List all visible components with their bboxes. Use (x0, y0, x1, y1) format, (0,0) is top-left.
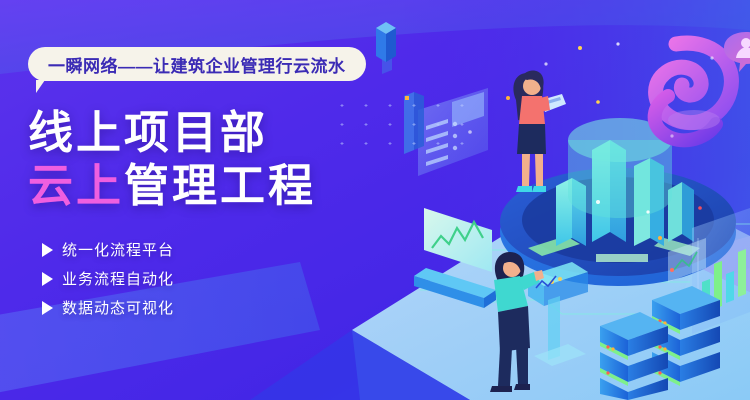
headline-line-1: 线上项目部 (28, 110, 268, 155)
triangle-icon (42, 272, 53, 286)
feature-bullet-1: 统一化流程平台 (42, 239, 174, 260)
tagline-text: 一瞬网络——让建筑企业管理行云流水 (48, 52, 346, 77)
copy-block: 一瞬网络——让建筑企业管理行云流水 线上项目部 云上管理工程 统一化流程平台 业… (0, 0, 430, 400)
tagline-bubble: 一瞬网络——让建筑企业管理行云流水 (28, 47, 366, 81)
feature-bullet-3-label: 数据动态可视化 (62, 297, 174, 318)
feature-bullet-2: 业务流程自动化 (42, 268, 174, 289)
triangle-icon (42, 243, 53, 257)
feature-bullet-2-label: 业务流程自动化 (62, 268, 174, 289)
feature-bullet-3: 数据动态可视化 (42, 297, 174, 318)
headline-accent: 云上 (28, 160, 124, 211)
headline-rest: 管理工程 (124, 160, 316, 211)
tagline-bubble-tail (36, 80, 54, 93)
triangle-icon (42, 301, 53, 315)
promotional-banner: 一瞬网络——让建筑企业管理行云流水 线上项目部 云上管理工程 统一化流程平台 业… (0, 0, 750, 400)
feature-bullet-1-label: 统一化流程平台 (62, 239, 174, 260)
headline-line-2: 云上管理工程 (28, 163, 316, 208)
